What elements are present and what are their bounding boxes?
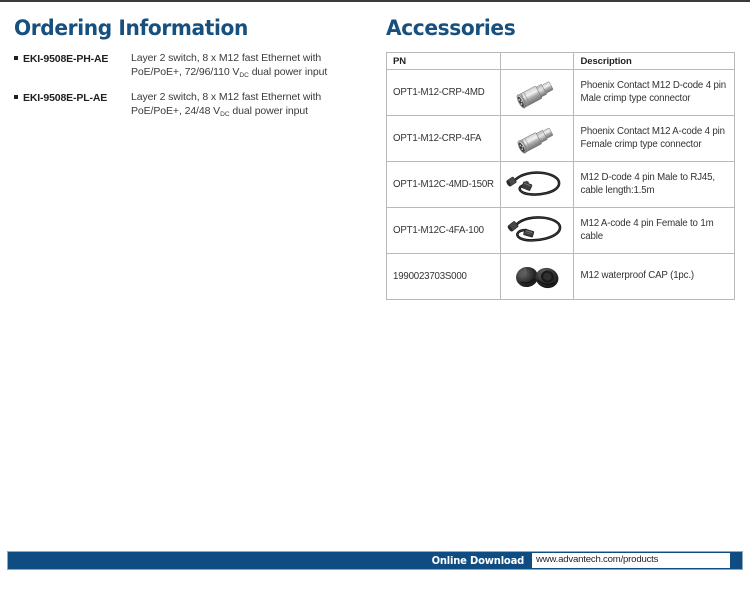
ordering-part-number: EKI-9508E-PH-AE	[23, 52, 131, 66]
cell-description: M12 A-code 4 pin Female to 1m cable	[573, 208, 734, 254]
cell-product-image	[501, 70, 573, 116]
table-row: OPT1-M12-CRP-4FA	[387, 116, 735, 162]
ordering-description: Layer 2 switch, 8 x M12 fast Ethernet wi…	[131, 52, 370, 80]
footer-online-download: Online Download www.advantech.com/produc…	[429, 552, 730, 569]
table-row: OPT1-M12C-4FA-100	[387, 208, 735, 254]
cell-product-image	[501, 162, 573, 208]
cell-description: Phoenix Contact M12 D-code 4 pin Male cr…	[573, 70, 734, 116]
m12-to-rj45-cable-photo	[505, 166, 569, 204]
ordering-information-section: Ordering Information EKI-9508E-PH-AE Lay…	[14, 18, 370, 130]
table-row: OPT1-M12-CRP-4MD	[387, 70, 735, 116]
ordering-description: Layer 2 switch, 8 x M12 fast Ethernet wi…	[131, 91, 370, 119]
column-header-pn: PN	[387, 53, 501, 70]
ordering-information-list: EKI-9508E-PH-AE Layer 2 switch, 8 x M12 …	[14, 52, 370, 119]
footer-url-box[interactable]: www.advantech.com/products	[532, 553, 730, 569]
cell-description: M12 D-code 4 pin Male to RJ45, cable len…	[573, 162, 734, 208]
footer-bar: Online Download www.advantech.com/produc…	[7, 551, 743, 570]
cell-part-number: 1990023703S000	[387, 254, 501, 300]
square-bullet-icon	[14, 91, 23, 99]
ordering-part-number: EKI-9508E-PL-AE	[23, 91, 131, 105]
cell-part-number: OPT1-M12-CRP-4MD	[387, 70, 501, 116]
cell-part-number: OPT1-M12-CRP-4FA	[387, 116, 501, 162]
footer-label: Online Download	[431, 555, 529, 567]
ordering-description-post: dual power input	[230, 105, 308, 117]
cell-product-image	[501, 116, 573, 162]
ordering-description-subscript: DC	[220, 111, 230, 118]
cell-description: M12 waterproof CAP (1pc.)	[573, 254, 734, 300]
ordering-description-subscript: DC	[239, 72, 249, 79]
ordering-information-title: Ordering Information	[14, 18, 356, 39]
datasheet-page: Ordering Information EKI-9508E-PH-AE Lay…	[0, 2, 750, 532]
column-header-image	[501, 53, 573, 70]
accessories-section: Accessories PN Description OPT1-M12-CRP-…	[386, 18, 736, 300]
cell-description: Phoenix Contact M12 A-code 4 pin Female …	[573, 116, 734, 162]
table-row: 1990023703S000	[387, 254, 735, 300]
m12-female-1m-cable-photo	[505, 212, 569, 250]
accessories-title: Accessories	[386, 18, 722, 39]
table-header-row: PN Description	[387, 53, 735, 70]
list-item: EKI-9508E-PH-AE Layer 2 switch, 8 x M12 …	[14, 52, 370, 80]
cell-part-number: OPT1-M12C-4FA-100	[387, 208, 501, 254]
ordering-description-post: dual power input	[249, 66, 327, 78]
column-header-description: Description	[573, 53, 734, 70]
m12-a-code-female-connector-photo	[506, 121, 568, 157]
m12-waterproof-cap-photo	[507, 260, 567, 294]
cell-part-number: OPT1-M12C-4MD-150R	[387, 162, 501, 208]
m12-d-code-male-connector-photo	[506, 75, 568, 111]
list-item: EKI-9508E-PL-AE Layer 2 switch, 8 x M12 …	[14, 91, 370, 119]
accessories-table: PN Description OPT1-M12-CRP-4MD	[386, 52, 735, 300]
cell-product-image	[501, 254, 573, 300]
square-bullet-icon	[14, 52, 23, 60]
table-row: OPT1-M12C-4MD-150R	[387, 162, 735, 208]
cell-product-image	[501, 208, 573, 254]
